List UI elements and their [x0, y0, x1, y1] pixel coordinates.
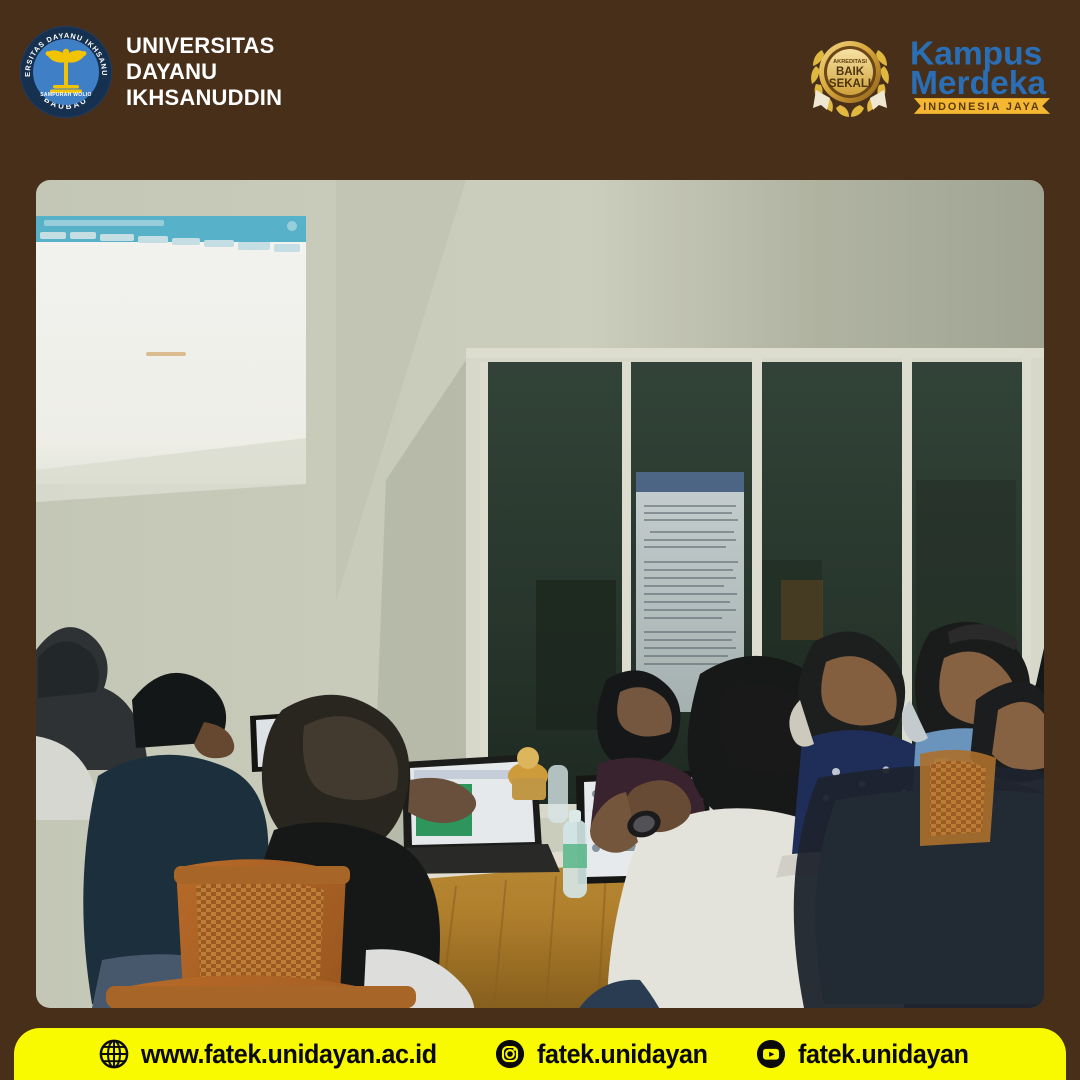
medal-line-1: AKREDITASI: [833, 59, 867, 65]
instagram-label: fatek.unidayan: [537, 1041, 708, 1068]
medal-line-3: SEKALI: [829, 78, 871, 90]
accreditation-medal-icon: AKREDITASI BAIK SEKALI: [806, 28, 894, 118]
kampus-ribbon-text: INDONESIA JAYA: [923, 101, 1040, 113]
university-branding: UNIVERSITAS DAYANU IKHSANUDDIN BAUBAU SA…: [20, 26, 282, 118]
medal-line-2: BAIK: [836, 66, 865, 78]
university-name: UNIVERSITAS DAYANU IKHSANUDDIN: [126, 33, 282, 111]
event-photo: [36, 180, 1044, 1008]
seal-motto: SAMPURAH WOLIO: [20, 92, 112, 98]
footer-social-bar: www.fatek.unidayan.ac.id fatek.unidayan …: [14, 1028, 1066, 1080]
university-name-line-1: UNIVERSITAS: [126, 33, 282, 59]
footer-item-youtube[interactable]: fatek.unidayan: [756, 1039, 981, 1069]
instagram-icon: [495, 1039, 525, 1069]
globe-icon: [99, 1039, 129, 1069]
university-seal-icon: UNIVERSITAS DAYANU IKHSANUDDIN BAUBAU SA…: [20, 26, 112, 118]
partner-logos: AKREDITASI BAIK SEKALI Kampus Merdeka IN…: [806, 28, 1056, 118]
header-bar: UNIVERSITAS DAYANU IKHSANUDDIN BAUBAU SA…: [0, 0, 1080, 152]
website-label: www.fatek.unidayan.ac.id: [141, 1041, 437, 1068]
youtube-label: fatek.unidayan: [798, 1041, 969, 1068]
kampus-merdeka-logo: Kampus Merdeka INDONESIA JAYA: [908, 31, 1056, 116]
footer-item-website[interactable]: www.fatek.unidayan.ac.id: [99, 1039, 459, 1069]
kampus-line-2: Merdeka: [910, 65, 1046, 102]
footer-item-instagram[interactable]: fatek.unidayan: [495, 1039, 720, 1069]
university-name-line-2: DAYANU: [126, 59, 282, 85]
event-photo-image: [36, 180, 1044, 1008]
youtube-icon: [756, 1039, 786, 1069]
university-name-line-3: IKHSANUDDIN: [126, 85, 282, 111]
